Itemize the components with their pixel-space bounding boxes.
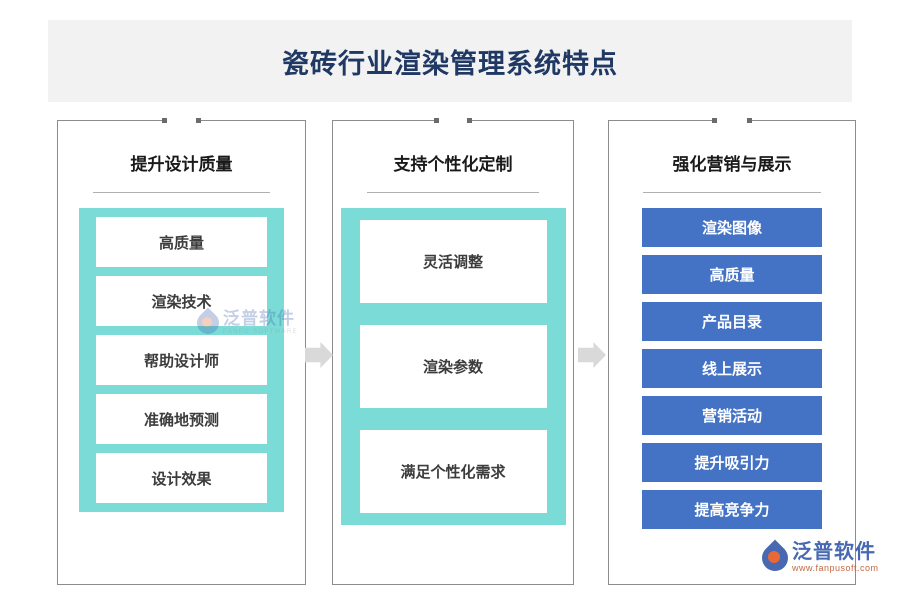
feature-card[interactable]: 帮助设计师 bbox=[96, 335, 267, 385]
feature-bar[interactable]: 提升吸引力 bbox=[642, 443, 822, 482]
rail-dot-icon bbox=[747, 118, 752, 123]
title-banner: 瓷砖行业渲染管理系统特点 bbox=[48, 20, 852, 102]
feature-card[interactable]: 准确地预测 bbox=[96, 394, 267, 444]
rail-segment-left bbox=[609, 120, 712, 121]
feature-bar[interactable]: 提高竞争力 bbox=[642, 490, 822, 529]
column-support-customization: 支持个性化定制 灵活调整 渲染参数 满足个性化需求 bbox=[332, 120, 574, 585]
feature-card[interactable]: 满足个性化需求 bbox=[360, 430, 547, 513]
feature-bar[interactable]: 渲染图像 bbox=[642, 208, 822, 247]
feature-bar[interactable]: 高质量 bbox=[642, 255, 822, 294]
feature-bar[interactable]: 营销活动 bbox=[642, 396, 822, 435]
feature-card[interactable]: 渲染技术 bbox=[96, 276, 267, 326]
feature-columns: 提升设计质量 高质量 渲染技术 帮助设计师 准确地预测 设计效果 支持个性化定制… bbox=[0, 120, 900, 590]
header-divider bbox=[367, 192, 540, 193]
feature-card[interactable]: 设计效果 bbox=[96, 453, 267, 503]
rail-segment-right bbox=[472, 120, 573, 121]
column-header: 提升设计质量 bbox=[58, 150, 305, 175]
column-improve-design-quality: 提升设计质量 高质量 渲染技术 帮助设计师 准确地预测 设计效果 bbox=[57, 120, 306, 585]
rail-segment-left bbox=[333, 120, 434, 121]
feature-card[interactable]: 渲染参数 bbox=[360, 325, 547, 408]
teal-panel: 高质量 渲染技术 帮助设计师 准确地预测 设计效果 bbox=[79, 208, 284, 512]
feature-card[interactable]: 灵活调整 bbox=[360, 220, 547, 303]
column-header: 支持个性化定制 bbox=[333, 150, 573, 175]
blue-bar-list: 渲染图像 高质量 产品目录 线上展示 营销活动 提升吸引力 提高竞争力 bbox=[642, 208, 822, 529]
feature-bar[interactable]: 线上展示 bbox=[642, 349, 822, 388]
rail-dot-icon bbox=[434, 118, 439, 123]
page-title: 瓷砖行业渲染管理系统特点 bbox=[282, 42, 618, 81]
arrow-right-icon bbox=[305, 342, 333, 368]
feature-bar[interactable]: 产品目录 bbox=[642, 302, 822, 341]
rail-segment-right bbox=[752, 120, 855, 121]
feature-card[interactable]: 高质量 bbox=[96, 217, 267, 267]
column-header: 强化营销与展示 bbox=[609, 150, 855, 175]
column-top-rail bbox=[58, 120, 305, 121]
rail-segment-right bbox=[201, 120, 305, 121]
rail-dot-icon bbox=[467, 118, 472, 123]
rail-dot-icon bbox=[162, 118, 167, 123]
header-divider bbox=[93, 192, 271, 193]
column-strengthen-marketing: 强化营销与展示 渲染图像 高质量 产品目录 线上展示 营销活动 提升吸引力 提高… bbox=[608, 120, 856, 585]
rail-segment-left bbox=[58, 120, 162, 121]
column-top-rail bbox=[333, 120, 573, 121]
column-top-rail bbox=[609, 120, 855, 121]
header-divider bbox=[643, 192, 820, 193]
teal-panel: 灵活调整 渲染参数 满足个性化需求 bbox=[341, 208, 566, 525]
rail-dot-icon bbox=[712, 118, 717, 123]
arrow-right-icon bbox=[578, 342, 606, 368]
rail-dot-icon bbox=[196, 118, 201, 123]
